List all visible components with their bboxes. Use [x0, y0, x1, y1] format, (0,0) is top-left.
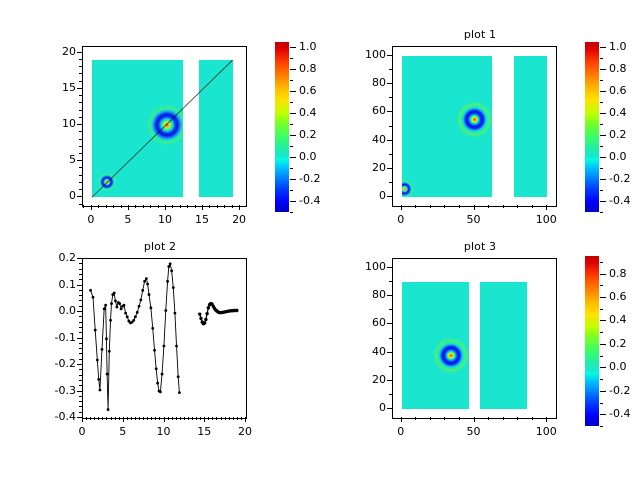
x-minor-tick: [221, 417, 222, 420]
x-minor-tick: [184, 417, 185, 420]
x-minor-tick: [196, 417, 197, 420]
y-minor-tick: [79, 348, 82, 349]
colorbar-minor-tick: [600, 262, 603, 263]
x-tick-label: 20: [219, 213, 259, 226]
colorbar-tick-label: -0.2: [609, 384, 630, 397]
data-point: [124, 312, 127, 315]
x-minor-tick: [503, 205, 504, 208]
y-tick-label: 5: [34, 153, 76, 166]
y-minor-tick: [389, 408, 392, 409]
x-minor-tick: [121, 205, 122, 208]
data-point: [136, 311, 139, 314]
x-minor-tick: [187, 205, 188, 208]
y-tick-label: -0.2: [34, 357, 76, 370]
data-point: [155, 367, 158, 370]
x-minor-tick: [488, 417, 489, 420]
x-minor-tick: [401, 205, 402, 208]
colorbar-minor-tick: [600, 47, 603, 48]
y-minor-tick: [79, 285, 82, 286]
data-point: [163, 345, 166, 348]
colorbar-tick-label: -0.2: [299, 172, 320, 185]
x-minor-tick: [86, 417, 87, 420]
colorbar-minor-tick: [600, 212, 603, 213]
y-minor-tick: [79, 263, 82, 264]
colorbar-tick-label: 0.4: [299, 106, 317, 119]
colorbar-minor-tick: [600, 179, 603, 180]
colorbar-minor-tick: [600, 320, 603, 321]
data-point: [115, 306, 118, 309]
x-tick-label: 50: [454, 425, 494, 438]
data-point: [151, 327, 154, 330]
data-point: [118, 302, 121, 305]
x-minor-tick: [192, 417, 193, 420]
x-minor-tick: [532, 417, 533, 420]
y-minor-tick: [79, 279, 82, 280]
axes-top-left[interactable]: [82, 46, 247, 207]
data-point: [204, 318, 207, 321]
y-tick-label: 60: [344, 104, 386, 117]
colorbar-tick-label: 0.4: [609, 313, 627, 326]
y-minor-tick: [79, 182, 82, 183]
colorbar-minor-tick: [600, 69, 603, 70]
x-minor-tick: [208, 417, 209, 420]
x-minor-tick: [474, 205, 475, 208]
data-point: [105, 337, 108, 340]
x-minor-tick: [546, 205, 547, 208]
y-minor-tick: [79, 327, 82, 328]
x-minor-tick: [232, 205, 233, 208]
colorbar-minor-tick: [600, 102, 603, 103]
y-tick-label: 40: [344, 345, 386, 358]
data-point: [107, 408, 110, 411]
x-minor-tick: [98, 417, 99, 420]
diagonal-line: [83, 47, 246, 206]
y-minor-tick: [79, 73, 82, 74]
y-minor-tick: [79, 401, 82, 402]
x-minor-tick: [128, 205, 129, 208]
y-minor-tick: [79, 102, 82, 103]
y-tick-label: 0: [34, 189, 76, 202]
colorbar-minor-tick: [600, 146, 603, 147]
y-minor-tick: [79, 167, 82, 168]
colorbar-minor-tick: [290, 47, 293, 48]
colorbar-minor-tick: [600, 403, 603, 404]
x-minor-tick: [229, 417, 230, 420]
data-point: [145, 277, 148, 280]
colorbar-minor-tick: [290, 102, 293, 103]
x-tick-label: 10: [144, 425, 184, 438]
y-minor-tick: [79, 175, 82, 176]
colorbar-minor-tick: [290, 212, 293, 213]
colorbar-minor-tick: [600, 168, 603, 169]
x-minor-tick: [180, 205, 181, 208]
y-tick-label: 40: [344, 133, 386, 146]
y-minor-tick: [79, 359, 82, 360]
x-minor-tick: [158, 205, 159, 208]
x-minor-tick: [444, 205, 445, 208]
x-minor-tick: [401, 417, 402, 420]
colorbar-minor-tick: [600, 285, 603, 286]
x-minor-tick: [151, 417, 152, 420]
colorbar-minor-tick: [290, 157, 293, 158]
y-minor-tick: [389, 352, 392, 353]
data-point: [178, 391, 181, 394]
y-minor-tick: [389, 380, 392, 381]
y-minor-tick: [389, 97, 392, 98]
x-minor-tick: [123, 417, 124, 420]
colorbar-top-right: [585, 42, 599, 212]
data-point: [110, 302, 113, 305]
data-point: [148, 293, 151, 296]
x-minor-tick: [150, 205, 151, 208]
y-minor-tick: [389, 267, 392, 268]
data-point: [113, 292, 116, 295]
data-point: [172, 286, 175, 289]
x-minor-tick: [106, 417, 107, 420]
y-minor-tick: [79, 306, 82, 307]
y-minor-tick: [79, 146, 82, 147]
axes-top-right[interactable]: [392, 46, 557, 207]
x-minor-tick: [204, 417, 205, 420]
small-sinc-blob-clipped-icon: [402, 179, 415, 197]
colorbar-tick-label: 0.0: [609, 360, 627, 373]
y-minor-tick: [79, 316, 82, 317]
x-minor-tick: [159, 417, 160, 420]
y-minor-tick: [389, 168, 392, 169]
colorbar-minor-tick: [600, 391, 603, 392]
colorbar-minor-tick: [600, 190, 603, 191]
y-minor-tick: [79, 124, 82, 125]
y-tick-label: 20: [344, 161, 386, 174]
x-minor-tick: [172, 205, 173, 208]
y-minor-tick: [79, 343, 82, 344]
y-minor-tick: [79, 391, 82, 392]
y-tick-label: 0: [344, 401, 386, 414]
x-minor-tick: [217, 205, 218, 208]
colorbar-tick-label: 0.8: [609, 62, 627, 75]
y-minor-tick: [79, 95, 82, 96]
data-point: [161, 373, 164, 376]
panel-bottom-left: plot 2 051015200.20.10.0-0.1-0.2-0.3-0.4: [0, 240, 320, 480]
y-minor-tick: [79, 269, 82, 270]
data-point: [166, 280, 169, 283]
data-point: [153, 349, 156, 352]
x-minor-tick: [212, 417, 213, 420]
x-minor-tick: [430, 205, 431, 208]
y-minor-tick: [79, 258, 82, 259]
x-minor-tick: [195, 205, 196, 208]
y-minor-tick: [79, 300, 82, 301]
data-point: [146, 283, 149, 286]
colorbar-tick-label: 0.6: [299, 84, 317, 97]
x-minor-tick: [90, 417, 91, 420]
x-minor-tick: [106, 205, 107, 208]
data-point: [109, 319, 112, 322]
x-minor-tick: [155, 417, 156, 420]
data-point: [143, 280, 146, 283]
x-minor-tick: [200, 417, 201, 420]
data-point: [126, 315, 129, 318]
x-tick-label: 0: [71, 213, 111, 226]
y-minor-tick: [79, 322, 82, 323]
y-minor-tick: [79, 338, 82, 339]
data-point: [123, 304, 126, 307]
y-minor-tick: [79, 290, 82, 291]
y-minor-tick: [389, 111, 392, 112]
image-patch: [480, 282, 527, 410]
data-point: [156, 382, 159, 385]
data-point: [101, 348, 104, 351]
y-minor-tick: [389, 366, 392, 367]
x-minor-tick: [164, 417, 165, 420]
colorbar-tick-label: 0.6: [609, 290, 627, 303]
y-tick-label: 0.1: [34, 278, 76, 291]
x-minor-tick: [546, 417, 547, 420]
x-minor-tick: [127, 417, 128, 420]
y-minor-tick: [79, 364, 82, 365]
x-minor-tick: [111, 417, 112, 420]
colorbar-tick-label: 0.0: [299, 150, 317, 163]
y-minor-tick: [79, 59, 82, 60]
y-minor-tick: [389, 126, 392, 127]
data-point: [170, 269, 173, 272]
panel-bottom-right-title: plot 3: [320, 240, 640, 253]
colorbar-minor-tick: [600, 309, 603, 310]
colorbar-minor-tick: [600, 91, 603, 92]
colorbar-tick-label: -0.4: [609, 194, 630, 207]
x-minor-tick: [131, 417, 132, 420]
large-sinc-blob-icon: [451, 97, 492, 142]
x-minor-tick: [172, 417, 173, 420]
y-minor-tick: [79, 160, 82, 161]
x-minor-tick: [168, 417, 169, 420]
colorbar-minor-tick: [600, 157, 603, 158]
colorbar-minor-tick: [600, 135, 603, 136]
y-minor-tick: [79, 385, 82, 386]
colorbar-minor-tick: [290, 146, 293, 147]
y-tick-label: -0.4: [34, 410, 76, 423]
data-point: [103, 307, 106, 310]
y-minor-tick: [389, 323, 392, 324]
x-minor-tick: [180, 417, 181, 420]
colorbar-tick-label: 0.6: [609, 84, 627, 97]
y-minor-tick: [389, 394, 392, 395]
colorbar-minor-tick: [600, 297, 603, 298]
colorbar-minor-tick: [600, 124, 603, 125]
colorbar-minor-tick: [290, 179, 293, 180]
y-minor-tick: [79, 406, 82, 407]
x-minor-tick: [102, 417, 103, 420]
x-minor-tick: [532, 205, 533, 208]
figure-canvas: 0510152005101520 1.00.80.60.40.20.0-0.2-…: [0, 0, 640, 480]
colorbar-minor-tick: [290, 168, 293, 169]
data-point: [203, 321, 206, 324]
colorbar-tick-label: 0.8: [609, 267, 627, 280]
panel-top-right-title: plot 1: [320, 28, 640, 41]
y-tick-label: -0.1: [34, 331, 76, 344]
data-point: [89, 289, 92, 292]
colorbar-minor-tick: [290, 91, 293, 92]
x-tick-label: 50: [454, 213, 494, 226]
y-tick-label: 60: [344, 316, 386, 329]
y-minor-tick: [389, 140, 392, 141]
panel-top-left: 0510152005101520 1.00.80.60.40.20.0-0.2-…: [0, 0, 320, 240]
colorbar-minor-tick: [600, 58, 603, 59]
data-point: [175, 345, 178, 348]
data-point: [174, 312, 177, 315]
x-minor-tick: [474, 417, 475, 420]
y-minor-tick: [389, 295, 392, 296]
x-minor-tick: [135, 417, 136, 420]
x-tick-label: 5: [103, 425, 143, 438]
y-minor-tick: [79, 189, 82, 190]
x-tick-label: 15: [184, 425, 224, 438]
x-minor-tick: [415, 417, 416, 420]
x-minor-tick: [113, 205, 114, 208]
image-patch: [402, 56, 492, 198]
data-point: [134, 315, 137, 318]
y-tick-label: 80: [344, 288, 386, 301]
colorbar-minor-tick: [290, 113, 293, 114]
colorbar-minor-tick: [290, 190, 293, 191]
colorbar-minor-tick: [600, 274, 603, 275]
colorbar-tick-label: 0.4: [609, 106, 627, 119]
colorbar-tick-label: -0.4: [299, 194, 320, 207]
y-minor-tick: [79, 417, 82, 418]
data-point: [132, 319, 135, 322]
y-minor-tick: [389, 182, 392, 183]
x-tick-label: 20: [225, 425, 265, 438]
colorbar-top-left: [275, 42, 289, 212]
axes-bottom-right[interactable]: [392, 258, 557, 419]
data-point: [149, 306, 152, 309]
y-tick-label: 100: [344, 48, 386, 61]
data-point: [207, 306, 210, 309]
data-point: [169, 262, 172, 265]
colorbar-tick-label: 0.8: [299, 62, 317, 75]
data-point: [235, 309, 238, 312]
colorbar-tick-label: 0.2: [299, 128, 317, 141]
data-point: [177, 375, 180, 378]
colorbar-tick-label: 0.2: [609, 128, 627, 141]
y-minor-tick: [79, 196, 82, 197]
x-minor-tick: [165, 205, 166, 208]
data-point: [94, 329, 97, 332]
x-minor-tick: [459, 417, 460, 420]
colorbar-tick-label: 1.0: [299, 40, 317, 53]
y-minor-tick: [79, 66, 82, 67]
colorbar-minor-tick: [290, 58, 293, 59]
y-minor-tick: [79, 380, 82, 381]
panel-top-right: plot 1 050100020406080100 1.00.80.60.40.…: [320, 0, 640, 240]
y-minor-tick: [79, 332, 82, 333]
x-minor-tick: [517, 417, 518, 420]
y-minor-tick: [79, 353, 82, 354]
x-minor-tick: [444, 417, 445, 420]
colorbar-minor-tick: [290, 69, 293, 70]
colorbar-tick-label: 0.2: [609, 337, 627, 350]
y-minor-tick: [79, 52, 82, 53]
y-tick-label: 80: [344, 76, 386, 89]
x-minor-tick: [147, 417, 148, 420]
x-minor-tick: [225, 417, 226, 420]
colorbar-minor-tick: [600, 367, 603, 368]
x-minor-tick: [216, 417, 217, 420]
colorbar-minor-tick: [600, 113, 603, 114]
x-minor-tick: [139, 417, 140, 420]
y-minor-tick: [79, 117, 82, 118]
y-minor-tick: [79, 295, 82, 296]
y-tick-label: 20: [34, 45, 76, 58]
y-minor-tick: [79, 375, 82, 376]
colorbar-tick-label: -0.2: [609, 172, 630, 185]
x-tick-label: 10: [145, 213, 185, 226]
x-minor-tick: [91, 205, 92, 208]
data-point: [199, 317, 202, 320]
colorbar-minor-tick: [600, 356, 603, 357]
y-tick-label: -0.3: [34, 384, 76, 397]
x-minor-tick: [245, 417, 246, 420]
x-tick-label: 15: [182, 213, 222, 226]
x-minor-tick: [119, 417, 120, 420]
colorbar-minor-tick: [600, 80, 603, 81]
data-point: [141, 289, 144, 292]
x-minor-tick: [202, 205, 203, 208]
y-minor-tick: [79, 274, 82, 275]
x-minor-tick: [115, 417, 116, 420]
y-minor-tick: [79, 369, 82, 370]
colorbar-bottom-right: [585, 256, 599, 426]
data-point: [108, 350, 111, 353]
data-point: [205, 312, 208, 315]
x-minor-tick: [176, 417, 177, 420]
x-minor-tick: [82, 417, 83, 420]
x-tick-label: 0: [381, 425, 421, 438]
colorbar-tick-label: -0.4: [609, 407, 630, 420]
x-minor-tick: [430, 417, 431, 420]
x-minor-tick: [143, 205, 144, 208]
colorbar-tick-label: 1.0: [609, 40, 627, 53]
x-minor-tick: [224, 205, 225, 208]
x-minor-tick: [239, 205, 240, 208]
y-minor-tick: [79, 131, 82, 132]
colorbar-minor-tick: [600, 344, 603, 345]
data-point: [92, 296, 95, 299]
x-minor-tick: [517, 205, 518, 208]
colorbar-minor-tick: [290, 201, 293, 202]
x-tick-label: 5: [108, 213, 148, 226]
image-patch: [514, 56, 547, 198]
data-point: [96, 359, 99, 362]
colorbar-minor-tick: [290, 124, 293, 125]
colorbar-minor-tick: [600, 414, 603, 415]
y-tick-label: 15: [34, 81, 76, 94]
y-minor-tick: [79, 153, 82, 154]
data-point: [99, 389, 102, 392]
y-tick-label: 100: [344, 260, 386, 273]
colorbar-minor-tick: [290, 135, 293, 136]
x-minor-tick: [233, 417, 234, 420]
x-tick-label: 100: [526, 425, 566, 438]
colorbar-minor-tick: [600, 379, 603, 380]
image-patch: [402, 282, 469, 410]
data-point: [97, 378, 100, 381]
data-point: [120, 307, 123, 310]
y-minor-tick: [389, 309, 392, 310]
x-minor-tick: [143, 417, 144, 420]
x-minor-tick: [209, 205, 210, 208]
colorbar-minor-tick: [600, 332, 603, 333]
